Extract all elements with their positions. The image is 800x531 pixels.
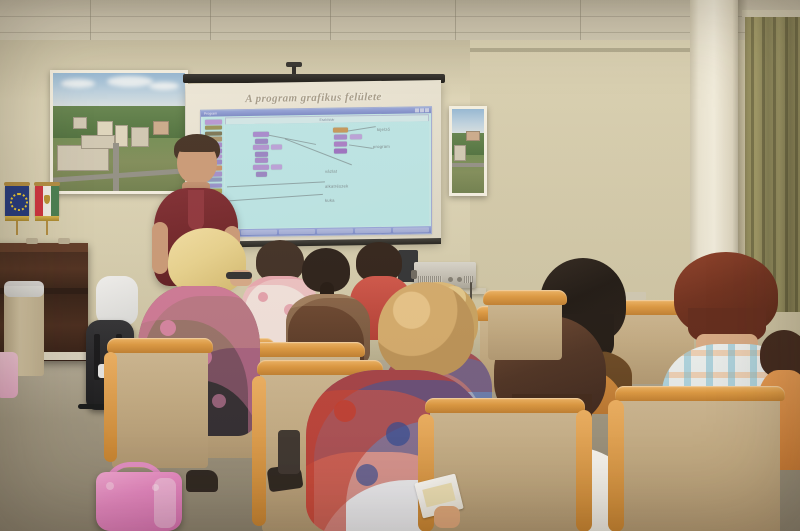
eyeglasses — [226, 272, 252, 279]
annotation-kijelzo: kijelző — [377, 127, 390, 132]
annotation-alkatreszek: alkatrészek — [325, 183, 348, 188]
wall-rail — [470, 48, 695, 52]
leg-lower — [278, 430, 300, 474]
pink-bag-left — [0, 352, 18, 398]
waste-bin-liner — [4, 281, 44, 297]
chair-arm-front-right — [608, 400, 624, 531]
chair-mid-right — [488, 290, 562, 360]
pink-handbag — [96, 472, 182, 531]
hungary-flag — [34, 186, 60, 228]
annotation-program: program — [373, 144, 390, 149]
white-cloth — [96, 276, 138, 326]
shoe-left — [186, 470, 218, 492]
chair-arm-center — [252, 376, 266, 526]
program-canvas: kijelző program vázlat alkatrészek kuka — [225, 121, 429, 228]
presentation-room-photo: A program grafikus felülete Program Eszk… — [0, 0, 800, 531]
slide-title: A program grafikus felülete — [186, 90, 441, 106]
annotation-kuka: kuka — [325, 198, 335, 203]
curtain-rail — [742, 10, 800, 17]
annotation-vazlat: vázlat — [325, 169, 337, 174]
chair-arm-left — [104, 352, 117, 462]
aerial-town-photo-right — [449, 106, 487, 196]
european-union-flag — [4, 186, 30, 228]
piano-lid — [0, 243, 88, 252]
hand-holding-papers — [434, 506, 460, 528]
chair-arm-front-center-right — [576, 410, 592, 531]
app-titlebar-text: Program — [204, 111, 217, 117]
chair-front-right — [620, 386, 780, 531]
piano-top-item-a — [26, 238, 38, 244]
piano-top-item-b — [58, 238, 70, 244]
window-buttons — [415, 108, 429, 112]
chair-left-foreground — [112, 338, 208, 468]
